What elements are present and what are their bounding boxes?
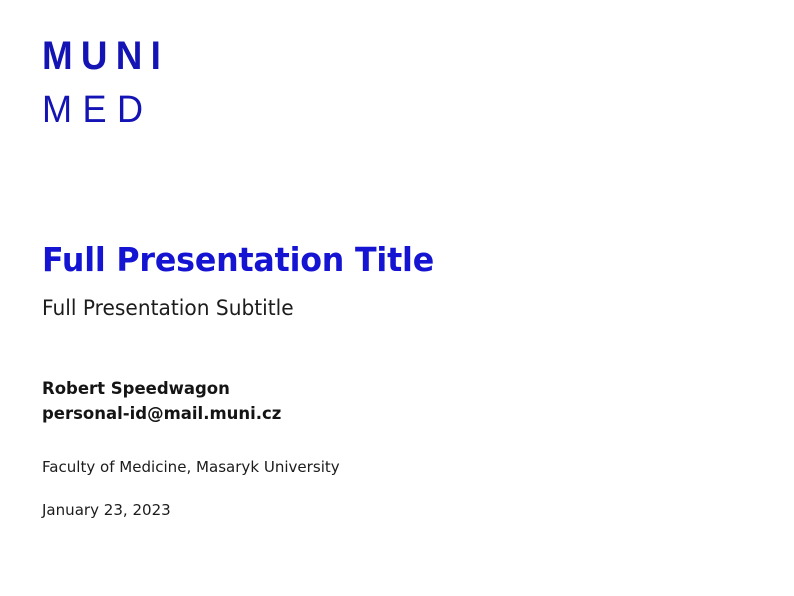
logo-muni-wordmark: MUNI — [42, 36, 169, 76]
slide-content: Full Presentation Title Full Presentatio… — [42, 240, 742, 521]
presentation-title: Full Presentation Title — [42, 240, 714, 280]
author-name: Robert Speedwagon — [42, 377, 721, 402]
logo-med-wordmark: MED — [42, 91, 173, 129]
presentation-title-slide: MUNI MED Full Presentation Title Full Pr… — [0, 0, 794, 596]
presentation-date: January 23, 2023 — [42, 499, 721, 521]
author-block: Robert Speedwagon personal-id@mail.muni.… — [42, 377, 742, 427]
muni-med-logo: MUNI MED — [42, 36, 180, 129]
author-affiliation: Faculty of Medicine, Masaryk University — [42, 456, 721, 478]
author-email: personal-id@mail.muni.cz — [42, 402, 721, 427]
presentation-subtitle: Full Presentation Subtitle — [42, 293, 714, 323]
